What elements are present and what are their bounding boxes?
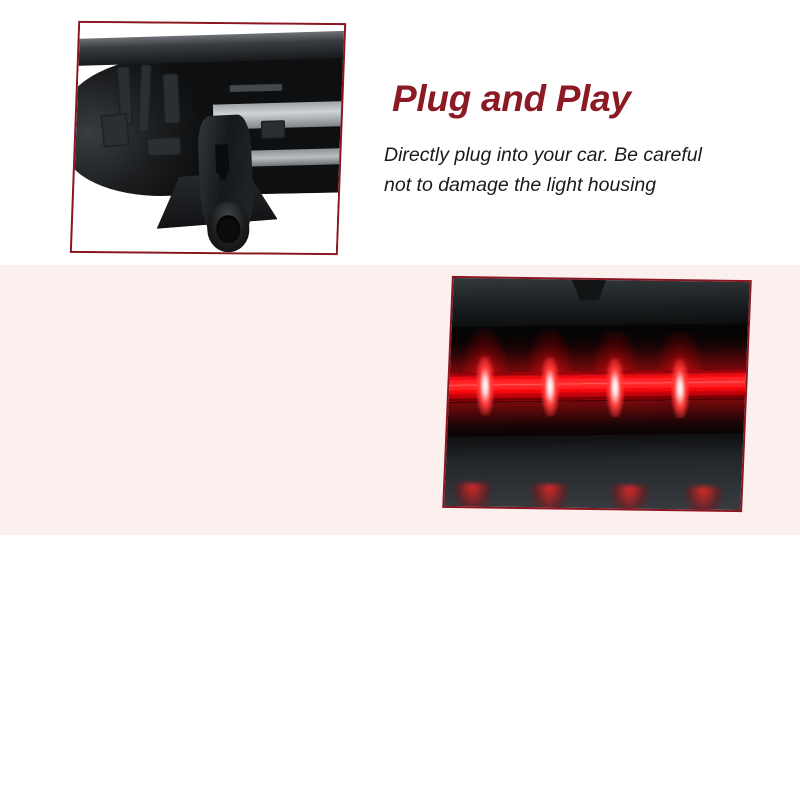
feature-description-plug-and-play: Directly plug into your car. Be careful … (384, 140, 702, 200)
feature-panel-plug-and-play: Plug and Play Directly plug into your ca… (0, 0, 800, 265)
led-chip (541, 357, 559, 417)
feature-panel-abs-cover: ABS Cover The scratch-resistant, dustpro… (0, 535, 800, 800)
led-chip (475, 356, 493, 416)
led-chip (606, 358, 624, 418)
led-chip (671, 359, 689, 419)
feature-description-line: Directly plug into your car. Be careful (384, 140, 702, 170)
feature-description-line: not to damage the light housing (384, 170, 702, 200)
feature-title-plug-and-play: Plug and Play (392, 78, 631, 120)
light-housing-connector-photo (70, 21, 346, 255)
illuminated-led-strip-photo (442, 276, 752, 512)
infographic-page: Plug and Play Directly plug into your ca… (0, 0, 800, 800)
